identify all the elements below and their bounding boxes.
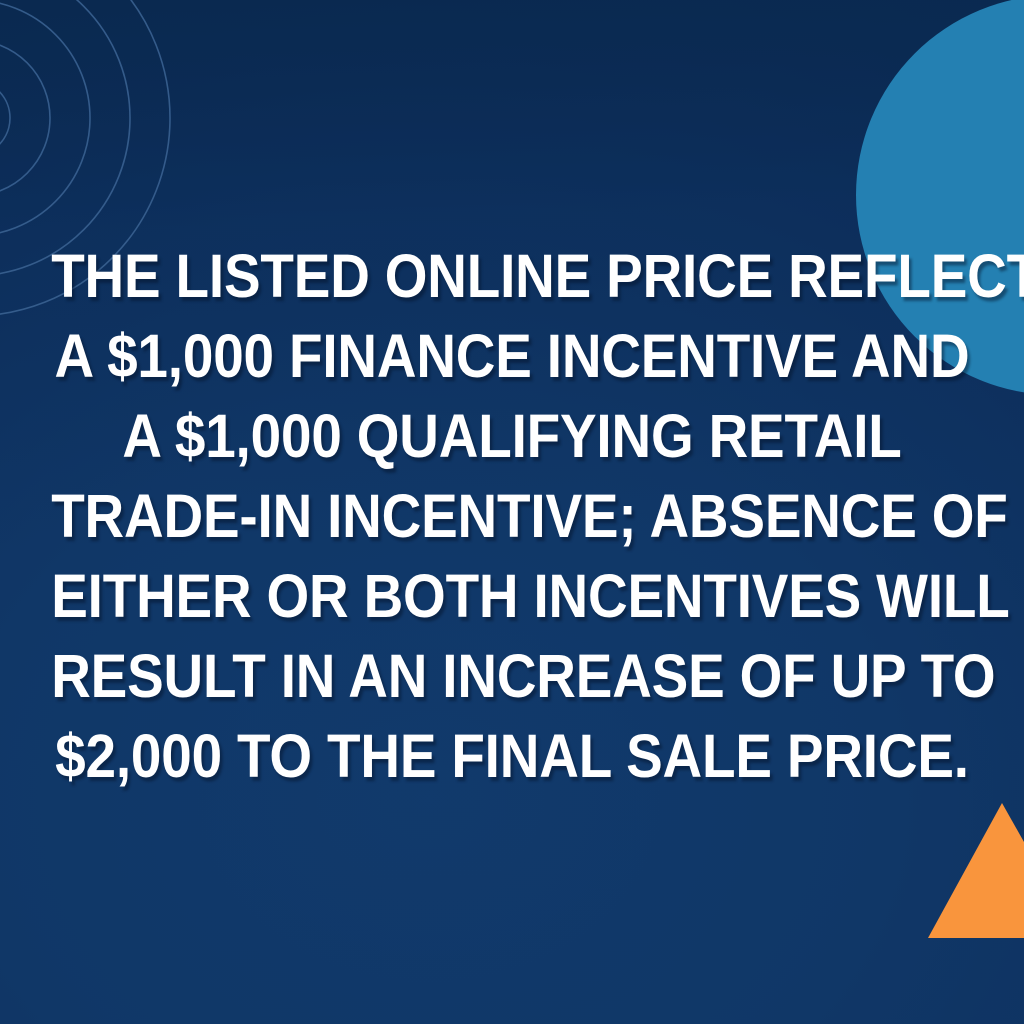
headline-line-3: A $1,000 QUALIFYING RETAIL: [51, 396, 973, 476]
headline-line-2: A $1,000 FINANCE INCENTIVE AND: [51, 316, 973, 396]
headline-line-6: RESULT IN AN INCREASE OF UP TO: [51, 636, 973, 716]
headline-line-1: THE LISTED ONLINE PRICE REFLECTS: [51, 236, 973, 316]
promo-banner: THE LISTED ONLINE PRICE REFLECTS A $1,00…: [0, 0, 1024, 1024]
headline-line-4: TRADE-IN INCENTIVE; ABSENCE OF: [51, 476, 973, 556]
headline-line-5: EITHER OR BOTH INCENTIVES WILL: [51, 556, 973, 636]
headline-line-7: $2,000 TO THE FINAL SALE PRICE.: [51, 716, 973, 796]
disclaimer-text-block: THE LISTED ONLINE PRICE REFLECTS A $1,00…: [0, 0, 1024, 1024]
